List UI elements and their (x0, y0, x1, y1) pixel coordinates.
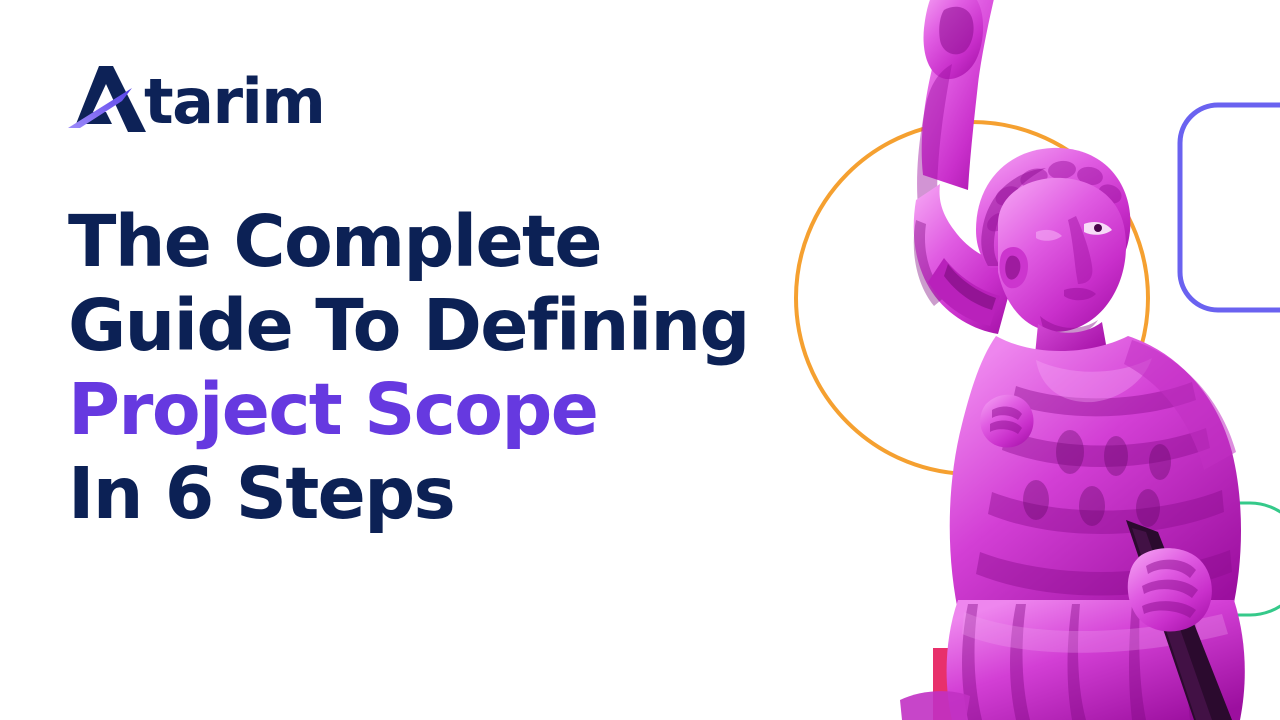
cover-canvas: tarim The Complete Guide To Defining Pro… (0, 0, 1280, 720)
headline-line-4: In 6 Steps (68, 452, 808, 536)
headline-line-2: Guide To Defining (68, 284, 808, 368)
headline-line-1: The Complete (68, 200, 808, 284)
atarim-logo[interactable]: tarim (66, 62, 324, 132)
headline-block: The Complete Guide To Defining Project S… (68, 200, 808, 536)
headline-line-3-accent: Project Scope (68, 368, 808, 452)
atarim-wordmark: tarim (144, 73, 324, 130)
statue-artwork (840, 0, 1280, 720)
atarim-a-mark-icon (66, 66, 150, 132)
roman-emperor-statue-image (840, 0, 1280, 720)
